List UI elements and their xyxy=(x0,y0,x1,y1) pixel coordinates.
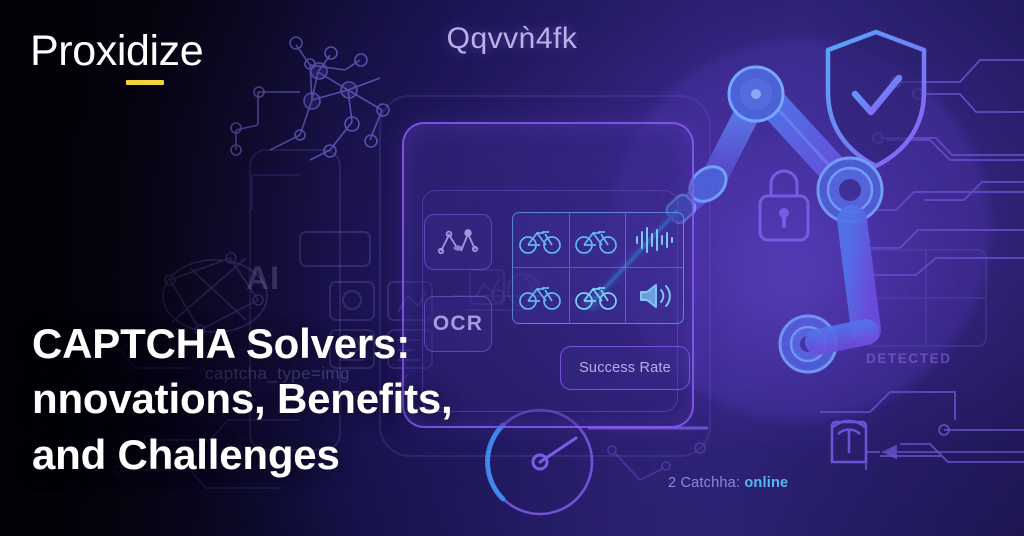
grid-cell-bicycle-2[interactable] xyxy=(570,213,627,268)
status-bar: 2 Catchha: online xyxy=(668,475,788,491)
grid-cell-speaker[interactable] xyxy=(626,268,683,323)
page-title-line-3: and Challenges xyxy=(32,427,453,482)
status-value: online xyxy=(744,475,788,491)
detected-label: DETECTED xyxy=(866,351,952,366)
status-label: Catchha: xyxy=(681,475,741,491)
wifi-router-icon xyxy=(832,421,866,462)
sparkline-nodes-icon xyxy=(424,214,492,270)
ai-watermark-label: AI xyxy=(246,260,280,297)
brand-logo-text: Proxidize xyxy=(30,30,203,73)
captcha-image-grid[interactable] xyxy=(512,212,684,324)
grid-cell-bicycle-3[interactable] xyxy=(513,268,570,323)
grid-cell-bicycle-4-selected[interactable] xyxy=(570,268,627,323)
banner-canvas: Qqvvǹ4fk OCR xyxy=(0,0,1024,536)
page-title-line-1: CAPTCHA Solvers: xyxy=(32,316,453,371)
brand-logo[interactable]: Proxidize xyxy=(30,30,203,73)
page-title-line-2: nnovations, Benefits, xyxy=(32,371,453,426)
success-rate-button[interactable]: Success Rate xyxy=(560,346,690,390)
status-prefix: 2 xyxy=(668,475,676,491)
brand-logo-accent-underline xyxy=(126,80,164,85)
grid-cell-audio-waveform[interactable] xyxy=(626,213,683,268)
grid-cell-bicycle-1[interactable] xyxy=(513,213,570,268)
page-title: CAPTCHA Solvers: nnovations, Benefits, a… xyxy=(32,316,453,482)
